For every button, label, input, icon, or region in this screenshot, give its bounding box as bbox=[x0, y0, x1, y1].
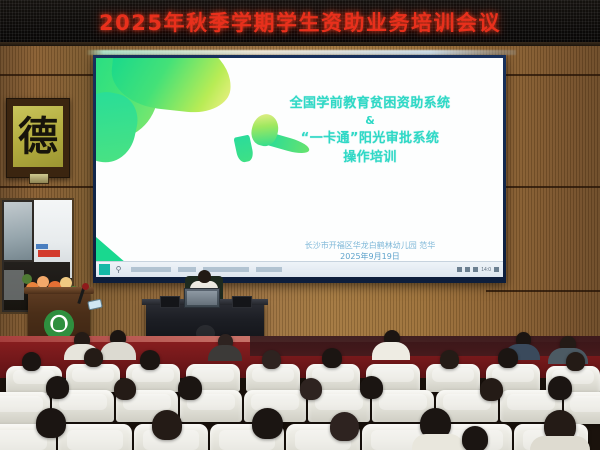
presenter-head bbox=[198, 270, 211, 283]
audience-head bbox=[300, 378, 322, 400]
audience-head bbox=[46, 376, 69, 399]
audience-shoulders bbox=[530, 436, 590, 450]
audience-head bbox=[330, 412, 359, 441]
audience-head bbox=[22, 352, 41, 371]
slide-title-line-1: 全国学前教育贫困资助系统 bbox=[246, 94, 494, 113]
microphone-icon bbox=[82, 283, 89, 290]
audience-head bbox=[462, 426, 488, 450]
tray-icon[interactable] bbox=[473, 267, 478, 272]
windows-start-icon[interactable] bbox=[99, 264, 110, 275]
tray-icon[interactable] bbox=[465, 267, 470, 272]
door-side-panel bbox=[4, 270, 24, 300]
laptop-icon bbox=[184, 288, 220, 308]
audience-shoulders bbox=[372, 342, 410, 360]
slide-credit-org: 长沙市开福区华龙白鹤林幼儿园 范华 bbox=[246, 240, 494, 251]
audience-head bbox=[262, 350, 281, 369]
taskbar-item[interactable] bbox=[203, 267, 249, 272]
plaque-inner-panel: 德 bbox=[13, 106, 63, 167]
calligraphy-plaque: 德 bbox=[6, 98, 70, 178]
search-icon[interactable]: ⚲ bbox=[113, 264, 124, 275]
audience-head bbox=[440, 350, 459, 369]
wall-seam bbox=[0, 186, 96, 188]
stage-monitor-right bbox=[232, 296, 252, 308]
corridor-blue-object bbox=[36, 244, 48, 249]
audience-head bbox=[360, 376, 383, 399]
audience-head bbox=[140, 350, 160, 370]
auditorium-seat bbox=[58, 424, 132, 450]
tray-icon[interactable] bbox=[457, 267, 462, 272]
audience-head bbox=[252, 408, 283, 439]
foliage bbox=[22, 274, 32, 284]
projection-screen: 全国学前教育贫困资助系统 & “一卡通”阳光审批系统 操作培训 长沙市开福区华龙… bbox=[96, 58, 503, 277]
projection-screen-bezel: 全国学前教育贫困资助系统 & “一卡通”阳光审批系统 操作培训 长沙市开福区华龙… bbox=[93, 55, 506, 283]
auditorium-seat bbox=[66, 364, 120, 392]
slide-title-line-3: 操作培训 bbox=[246, 148, 494, 167]
audience-head bbox=[84, 348, 103, 367]
laptop-screen bbox=[187, 291, 217, 305]
wall-seam bbox=[486, 290, 600, 292]
corridor-red-object bbox=[38, 250, 60, 257]
slide-title-block: 全国学前教育贫困资助系统 & “一卡通”阳光审批系统 操作培训 bbox=[246, 94, 494, 167]
door-frosted-glass bbox=[4, 202, 32, 260]
audience-shoulders bbox=[208, 345, 242, 361]
audience-head bbox=[114, 378, 136, 400]
taskbar-clock[interactable]: 14:0 bbox=[481, 267, 491, 273]
plaque-character: 德 bbox=[18, 117, 58, 157]
windows-taskbar[interactable]: ⚲ 14:0 bbox=[96, 261, 503, 277]
plaque-bottom-tag bbox=[29, 173, 49, 184]
taskbar-item[interactable] bbox=[131, 267, 171, 272]
audience-head bbox=[480, 378, 503, 401]
audience-shoulders bbox=[412, 434, 464, 450]
slide-title-line-2: “一卡通”阳光审批系统 bbox=[246, 129, 494, 148]
audience-head bbox=[36, 408, 66, 438]
audience-head bbox=[152, 410, 182, 440]
slide-credit-block: 长沙市开福区华龙白鹤林幼儿园 范华 2025年9月19日 bbox=[246, 240, 494, 262]
conference-hall-screenshot: 2025年秋季学期学生资助业务培训会议 德 全国学前教育贫困资 bbox=[0, 0, 600, 450]
audience-head bbox=[548, 376, 572, 400]
slide-title-ampersand: & bbox=[246, 113, 494, 129]
stage-monitor-left bbox=[160, 296, 180, 308]
audience-head bbox=[566, 352, 585, 371]
tray-icon[interactable] bbox=[494, 267, 499, 272]
led-banner-bottom-edge bbox=[0, 42, 600, 46]
audience-head bbox=[322, 348, 342, 368]
taskbar-tray[interactable]: 14:0 bbox=[457, 267, 499, 273]
audience-head bbox=[178, 376, 202, 400]
audience-head bbox=[498, 348, 518, 368]
slide-corner-triangle bbox=[96, 237, 126, 263]
taskbar-item[interactable] bbox=[178, 267, 196, 272]
led-banner: 2025年秋季学期学生资助业务培训会议 bbox=[0, 0, 600, 46]
taskbar-item[interactable] bbox=[256, 267, 282, 272]
audience-area bbox=[0, 330, 600, 450]
led-banner-title: 2025年秋季学期学生资助业务培训会议 bbox=[0, 7, 600, 37]
audience-shoulders bbox=[100, 342, 136, 360]
tree-icon bbox=[53, 317, 65, 330]
